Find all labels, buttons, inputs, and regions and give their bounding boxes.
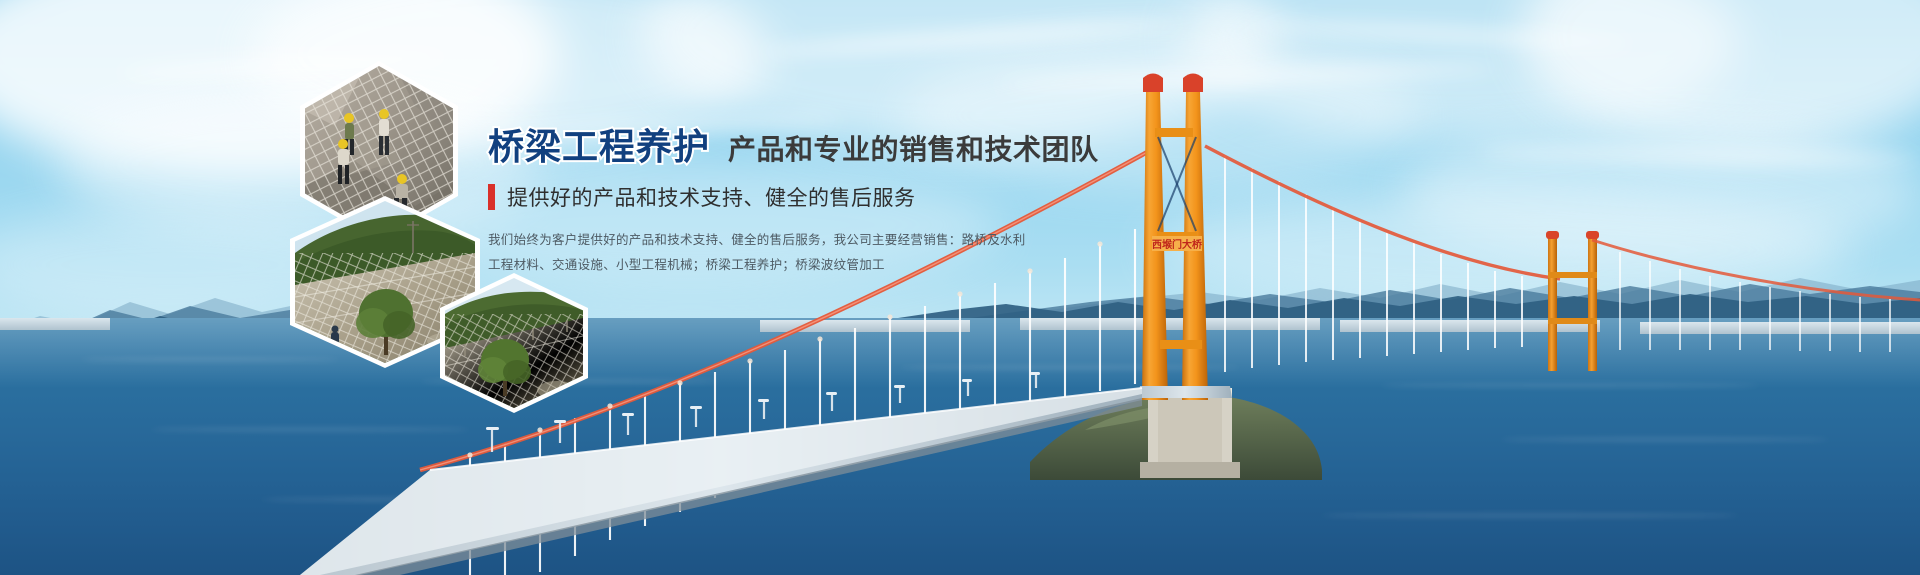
- page-title: 桥梁工程养护: [488, 118, 710, 170]
- body-line-1: 我们始终为客户提供好的产品和技术支持、健全的售后服务，我公司主要经营销售：路桥及…: [488, 230, 1248, 250]
- bridge-road-deck: [300, 386, 1232, 575]
- subheadline-row: 提供好的产品和技术支持、健全的售后服务: [488, 182, 1248, 212]
- hero-banner: 西堠门大桥: [0, 0, 1920, 575]
- body-paragraph: 我们始终为客户提供好的产品和技术支持、健全的售后服务，我公司主要经营销售：路桥及…: [488, 230, 1248, 275]
- subheadline-text: 提供好的产品和技术支持、健全的售后服务: [507, 182, 916, 212]
- banner-text-block: 桥梁工程养护 产品和专业的销售和技术团队 提供好的产品和技术支持、健全的售后服务…: [488, 118, 1248, 280]
- suspension-bridge: 西堠门大桥: [0, 0, 1920, 575]
- page-subtitle: 产品和专业的销售和技术团队: [728, 128, 1099, 168]
- body-line-2: 工程材料、交通设施、小型工程机械；桥梁工程养护；桥梁波纹管加工: [488, 255, 1248, 275]
- accent-bar-icon: [488, 184, 495, 210]
- bridge-tower-far: [1546, 231, 1599, 371]
- hex-photo-slope-mesh-roadside[interactable]: [440, 273, 588, 413]
- headline-row: 桥梁工程养护 产品和专业的销售和技术团队: [488, 118, 1248, 166]
